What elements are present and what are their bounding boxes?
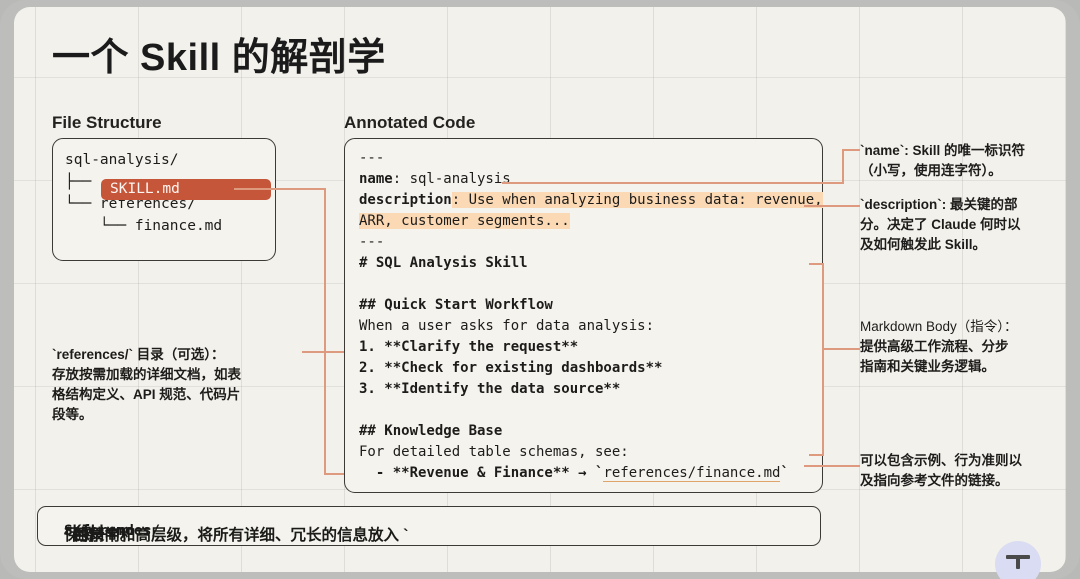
tree-branch-3: └── finance.md xyxy=(65,218,222,234)
annotation-references-line-4: 段等。 xyxy=(52,405,297,425)
annotation-description-line-2: 分。决定了 Claude 何时以 xyxy=(860,215,1060,235)
connector-body-bracket-bottom xyxy=(809,454,823,456)
annotation-markdown-body: Markdown Body（指令）： 提供高级工作流程、分步 指南和关键业务逻辑… xyxy=(860,317,1060,377)
connector-name-to-anno xyxy=(842,149,860,151)
tree-root-label: sql-analysis/ xyxy=(65,152,179,168)
connector-name-vertical xyxy=(842,149,844,184)
code-line-bullet-tick: ` xyxy=(780,465,788,481)
minimize-icon-bar-vertical xyxy=(1016,555,1020,569)
annotated-code-card: --- name: sql-analysis description: Use … xyxy=(344,138,823,493)
section-heading-annotated-code: Annotated Code xyxy=(344,113,475,133)
code-block: --- name: sql-analysis description: Use … xyxy=(359,148,814,484)
code-reference-link[interactable]: references/finance.md xyxy=(603,465,780,482)
connector-body-to-anno xyxy=(822,348,860,350)
code-line-h2-knowledge: ## Knowledge Base xyxy=(359,423,502,439)
summary-banner: 保持 `SKILL.md` 的精简和高层级，将所有详细、冗长的信息放入 `ref… xyxy=(37,506,821,546)
code-value-name: : sql-analysis xyxy=(393,171,511,187)
minimize-icon[interactable] xyxy=(995,541,1041,579)
annotation-markdown-body-line-3: 指南和关键业务逻辑。 xyxy=(860,357,1060,377)
connector-skill-vertical xyxy=(324,188,326,474)
code-line-frontmatter-close: --- xyxy=(359,234,384,250)
annotation-name: `name`: Skill 的唯一标识符 （小写，使用连字符）。 xyxy=(860,141,1058,181)
code-line-step-3: 3. **Identify the data source** xyxy=(359,381,620,397)
tree-branch-1: ├── xyxy=(65,174,100,190)
code-value-description-line2: ARR, customer segments... xyxy=(359,213,570,229)
slide-content: 一个 Skill 的解剖学 File Structure Annotated C… xyxy=(14,7,1066,572)
annotation-description: `description`: 最关键的部 分。决定了 Claude 何时以 及如… xyxy=(860,195,1060,255)
connector-name-horizontal xyxy=(502,182,843,184)
annotation-name-line-1: `name`: Skill 的唯一标识符 xyxy=(860,141,1058,161)
code-line-h1: # SQL Analysis Skill xyxy=(359,255,528,271)
page-title: 一个 Skill 的解剖学 xyxy=(52,26,386,81)
code-line-step-2: 2. **Check for existing dashboards** xyxy=(359,360,662,376)
code-line-step-1: 1. **Clarify the request** xyxy=(359,339,578,355)
annotation-links: 可以包含示例、行为准则以 及指向参考文件的链接。 xyxy=(860,451,1060,491)
annotation-description-line-1: `description`: 最关键的部 xyxy=(860,195,1060,215)
annotation-name-line-2: （小写，使用连字符）。 xyxy=(860,161,1058,181)
annotation-markdown-body-line-1: Markdown Body（指令）： xyxy=(860,317,1060,337)
annotation-links-line-2: 及指向参考文件的链接。 xyxy=(860,471,1060,491)
slide-canvas: 一个 Skill 的解剖学 File Structure Annotated C… xyxy=(14,7,1066,572)
skill-md-label: SKILL.md xyxy=(110,181,180,197)
device-frame: 一个 Skill 的解剖学 File Structure Annotated C… xyxy=(0,0,1080,579)
connector-references-vertical xyxy=(302,351,304,353)
annotation-description-line-3: 及如何触发此 Skill。 xyxy=(860,235,1060,255)
section-heading-file-structure: File Structure xyxy=(52,113,162,133)
annotation-references-line-2: 存放按需加载的详细文档，如表 xyxy=(52,365,297,385)
code-value-description-line1: : Use when analyzing business data: reve… xyxy=(452,192,823,208)
code-line-schemas: For detailed table schemas, see: xyxy=(359,444,629,460)
annotation-references-line-1: `references/` 目录（可选）： xyxy=(52,345,297,365)
connector-description xyxy=(804,205,860,207)
code-line-h2-quickstart: ## Quick Start Workflow xyxy=(359,297,553,313)
annotation-links-line-1: 可以包含示例、行为准则以 xyxy=(860,451,1060,471)
connector-body-bracket-vertical xyxy=(822,263,824,456)
connector-references-stub xyxy=(302,351,344,353)
file-structure-card: sql-analysis/ ├── └── references/ └── fi… xyxy=(52,138,276,261)
code-key-name: name xyxy=(359,171,393,187)
code-line-intro: When a user asks for data analysis: xyxy=(359,318,654,334)
annotation-markdown-body-line-2: 提供高级工作流程、分步 xyxy=(860,337,1060,357)
connector-body-bracket-top xyxy=(809,263,823,265)
code-key-description: description xyxy=(359,192,452,208)
connector-skill-horizontal xyxy=(234,188,326,190)
annotation-references: `references/` 目录（可选）： 存放按需加载的详细文档，如表 格结构… xyxy=(52,345,297,425)
connector-skill-to-code xyxy=(324,473,344,475)
annotation-references-line-3: 格结构定义、API 规范、代码片 xyxy=(52,385,297,405)
banner-part-3: ` 目录中。 xyxy=(64,523,135,545)
code-line-bullet-revenue: - **Revenue & Finance** → ` xyxy=(359,465,603,481)
connector-link-to-anno xyxy=(804,465,860,467)
code-line-frontmatter-open: --- xyxy=(359,150,384,166)
